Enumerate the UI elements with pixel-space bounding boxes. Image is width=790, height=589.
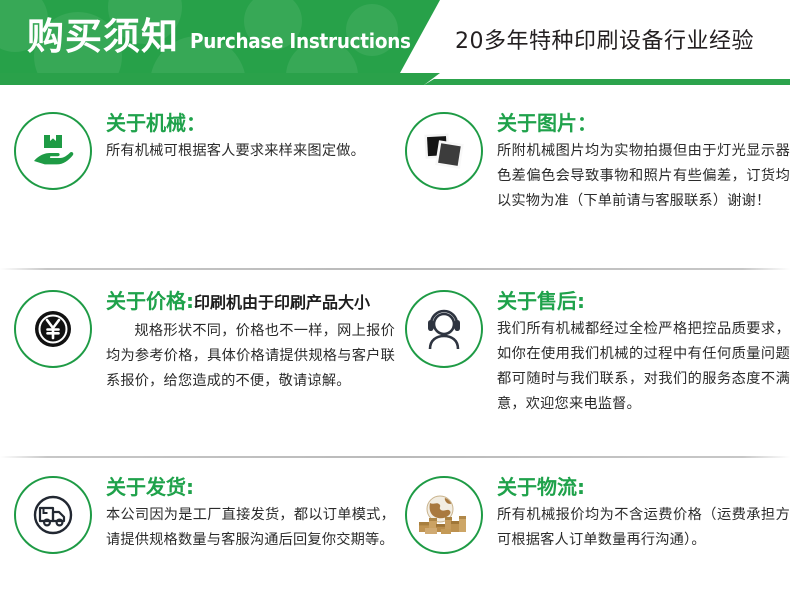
instruction-body: 关于售后: 我们所有机械都经过全检严格把控品质要求，如你在使用我们机械的过程中有… — [483, 286, 790, 417]
instruction-title: 关于发货: — [106, 474, 395, 500]
header-green-strip — [0, 73, 440, 85]
instruction-body: 关于价格:印刷机由于印刷产品大小 规格形状不同，价格也不一样，网上报价均为参考价… — [92, 286, 395, 394]
purchase-instructions-page: 购买须知 Purchase Instructions 20多年特种印刷设备行业经… — [0, 0, 790, 589]
instructions-grid: 关于机械： 所有机械可根据客人要求来样来图定做。 — [0, 90, 790, 589]
instruction-text: 所附机械图片均为实物拍摄但由于灯光显示器色差偏色会导致事物和照片有些偏差，订货均… — [497, 139, 790, 214]
instruction-body: 关于图片： 所附机械图片均为实物拍摄但由于灯光显示器色差偏色会导致事物和照片有些… — [483, 108, 790, 214]
instruction-title: 关于图片： — [497, 110, 790, 136]
instruction-text: 规格形状不同，价格也不一样，网上报价均为参考价格，具体价格请提供规格与客户联系报… — [106, 319, 395, 394]
photos-icon — [405, 112, 483, 190]
instruction-body: 关于机械： 所有机械可根据客人要求来样来图定做。 — [92, 108, 395, 164]
instruction-card-after-sales: 关于售后: 我们所有机械都经过全检严格把控品质要求，如你在使用我们机械的过程中有… — [395, 286, 790, 456]
delivery-truck-icon — [14, 476, 92, 554]
instruction-title: 关于售后: — [497, 288, 790, 314]
instructions-row: 关于发货: 本公司因为是工厂直接发货，都以订单模式，请提供规格数量与客服沟通后回… — [0, 458, 790, 589]
page-title-english: Purchase Instructions — [190, 29, 411, 53]
header-green-underline — [424, 79, 790, 85]
instruction-title: 关于机械： — [106, 110, 395, 136]
instruction-title: 关于物流: — [497, 474, 790, 500]
yen-coin-icon — [14, 290, 92, 368]
hand-holding-box-icon — [14, 112, 92, 190]
instruction-text: 所有机械可根据客人要求来样来图定做。 — [106, 139, 395, 164]
page-header: 购买须知 Purchase Instructions 20多年特种印刷设备行业经… — [0, 0, 790, 90]
instruction-text: 我们所有机械都经过全检严格把控品质要求，如你在使用我们机械的过程中有任何质量问题… — [497, 317, 790, 417]
instructions-row: 关于机械： 所有机械可根据客人要求来样来图定做。 — [0, 90, 790, 268]
instruction-title-text: 关于价格: — [106, 289, 194, 313]
instruction-body: 关于物流: 所有机械报价均为不含运费价格（运费承担方可根据客人订单数量再行沟通）… — [483, 472, 790, 553]
instruction-card-pictures: 关于图片： 所附机械图片均为实物拍摄但由于灯光显示器色差偏色会导致事物和照片有些… — [395, 108, 790, 268]
instruction-card-price: 关于价格:印刷机由于印刷产品大小 规格形状不同，价格也不一样，网上报价均为参考价… — [0, 286, 395, 456]
instruction-text: 所有机械报价均为不含运费价格（运费承担方可根据客人订单数量再行沟通）。 — [497, 503, 790, 553]
instruction-card-machine: 关于机械： 所有机械可根据客人要求来样来图定做。 — [0, 108, 395, 268]
instruction-title: 关于价格:印刷机由于印刷产品大小 — [106, 288, 395, 316]
instructions-row: 关于价格:印刷机由于印刷产品大小 规格形状不同，价格也不一样，网上报价均为参考价… — [0, 270, 790, 456]
instruction-body: 关于发货: 本公司因为是工厂直接发货，都以订单模式，请提供规格数量与客服沟通后回… — [92, 472, 395, 553]
headset-support-icon — [405, 290, 483, 368]
globe-boxes-icon — [405, 476, 483, 554]
header-tagline: 20多年特种印刷设备行业经验 — [455, 28, 754, 56]
instruction-card-logistics: 关于物流: 所有机械报价均为不含运费价格（运费承担方可根据客人订单数量再行沟通）… — [395, 472, 790, 589]
instruction-card-shipping: 关于发货: 本公司因为是工厂直接发货，都以订单模式，请提供规格数量与客服沟通后回… — [0, 472, 395, 589]
instruction-text: 本公司因为是工厂直接发货，都以订单模式，请提供规格数量与客服沟通后回复你交期等。 — [106, 503, 395, 553]
instruction-title-inline-extra: 印刷机由于印刷产品大小 — [194, 293, 370, 312]
page-title: 购买须知 — [27, 16, 179, 58]
